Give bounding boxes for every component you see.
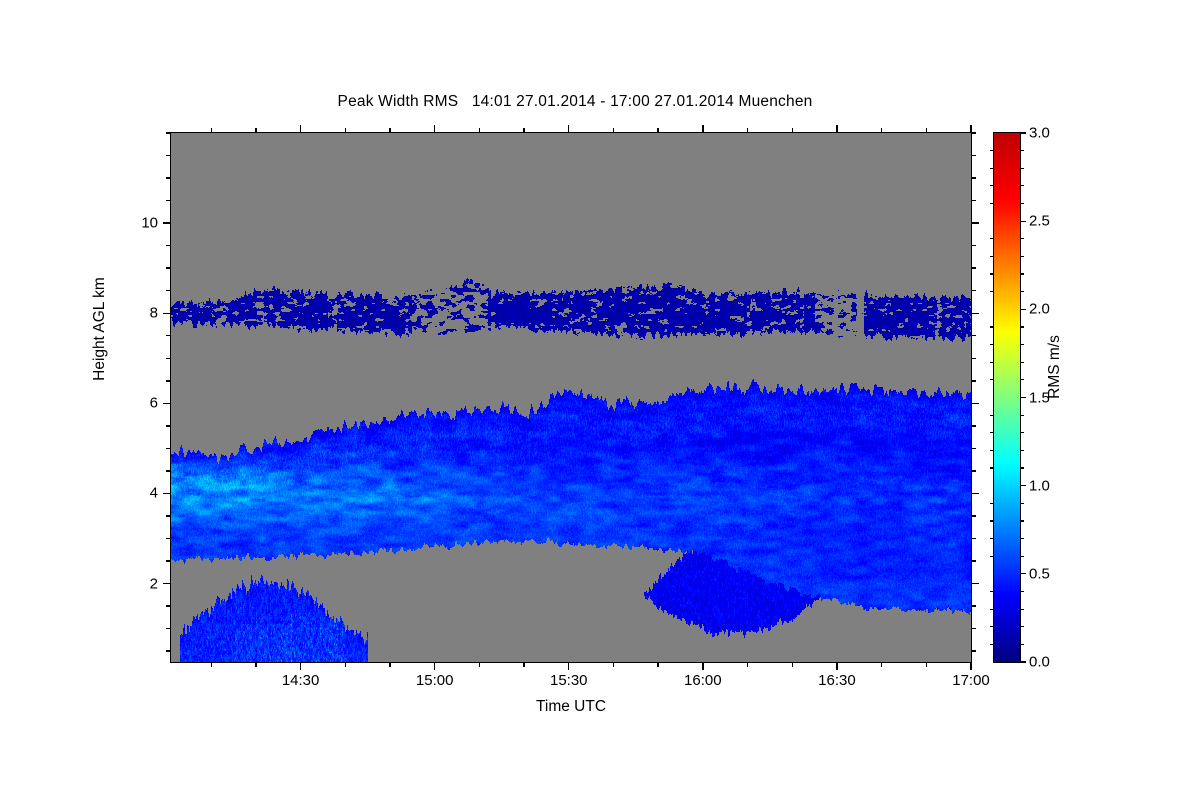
colorbar-label: RMS m/s <box>1046 297 1064 437</box>
x-axis-minor-tick <box>345 128 346 133</box>
x-axis-minor-tick <box>881 128 882 133</box>
colorbar-tick-label: 0.0 <box>1029 654 1050 671</box>
y-axis-minor-tick <box>166 515 171 516</box>
y-axis-major-tick <box>163 222 171 223</box>
x-axis-major-tick <box>970 662 971 670</box>
y-axis-minor-tick <box>971 358 976 359</box>
y-axis-label: Height AGL km <box>91 209 109 449</box>
y-axis-major-tick <box>971 493 979 494</box>
x-axis-minor-tick <box>345 662 346 667</box>
y-axis-minor-tick <box>971 245 976 246</box>
x-axis-minor-tick <box>523 662 524 667</box>
x-axis-major-tick <box>300 662 301 670</box>
x-axis-minor-tick <box>211 128 212 133</box>
x-axis-minor-tick <box>523 128 524 133</box>
x-axis-minor-tick <box>255 662 256 667</box>
y-axis-tick-label: 6 <box>102 395 158 412</box>
figure-canvas: Peak Width RMS 14:01 27.01.2014 - 17:00 … <box>0 0 1200 800</box>
colorbar-gradient <box>994 133 1020 662</box>
colorbar[interactable] <box>993 132 1021 663</box>
x-axis-tick-label: 17:00 <box>952 672 990 689</box>
y-axis-minor-tick <box>971 605 976 606</box>
y-axis-minor-tick <box>971 267 976 268</box>
y-axis-minor-tick <box>166 470 171 471</box>
x-axis-minor-tick <box>657 128 658 133</box>
y-axis-minor-tick <box>166 560 171 561</box>
x-axis-major-tick <box>568 662 569 670</box>
x-axis-minor-tick <box>881 662 882 667</box>
x-axis-minor-tick <box>657 662 658 667</box>
y-axis-major-tick <box>163 313 171 314</box>
x-axis-major-tick <box>300 125 301 133</box>
x-axis-tick-label: 16:30 <box>818 672 856 689</box>
x-axis-minor-tick <box>389 128 390 133</box>
x-axis-major-tick <box>702 662 703 670</box>
colorbar-tick-label: 2.5 <box>1029 213 1050 230</box>
y-axis-tick-label: 8 <box>102 305 158 322</box>
x-axis-major-tick <box>836 125 837 133</box>
y-axis-major-tick <box>163 493 171 494</box>
y-axis-minor-tick <box>971 448 976 449</box>
y-axis-major-tick <box>971 313 979 314</box>
y-axis-minor-tick <box>166 132 171 133</box>
y-axis-minor-tick <box>166 425 171 426</box>
x-axis-major-tick <box>434 662 435 670</box>
x-axis-label: Time UTC <box>170 698 972 716</box>
x-axis-tick-label: 15:30 <box>550 672 588 689</box>
y-axis-major-tick <box>163 583 171 584</box>
y-axis-minor-tick <box>166 650 171 651</box>
x-axis-minor-tick <box>389 662 390 667</box>
x-axis-minor-tick <box>792 662 793 667</box>
y-axis-minor-tick <box>971 177 976 178</box>
y-axis-minor-tick <box>166 290 171 291</box>
y-axis-minor-tick <box>971 628 976 629</box>
y-axis-minor-tick <box>166 380 171 381</box>
y-axis-minor-tick <box>971 155 976 156</box>
y-axis-tick-label: 10 <box>102 215 158 232</box>
y-axis-minor-tick <box>166 200 171 201</box>
x-axis-major-tick <box>702 125 703 133</box>
y-axis-minor-tick <box>166 448 171 449</box>
y-axis-minor-tick <box>971 132 976 133</box>
y-axis-major-tick <box>163 403 171 404</box>
y-axis-minor-tick <box>166 628 171 629</box>
y-axis-minor-tick <box>971 650 976 651</box>
y-axis-minor-tick <box>166 538 171 539</box>
x-axis-minor-tick <box>792 128 793 133</box>
y-axis-tick-label: 2 <box>102 575 158 592</box>
y-axis-major-tick <box>971 583 979 584</box>
x-axis-minor-tick <box>926 128 927 133</box>
y-axis-minor-tick <box>166 358 171 359</box>
y-axis-minor-tick <box>166 605 171 606</box>
y-axis-minor-tick <box>971 380 976 381</box>
x-axis-minor-tick <box>747 128 748 133</box>
x-axis-tick-label: 16:00 <box>684 672 722 689</box>
y-axis-minor-tick <box>166 177 171 178</box>
x-axis-major-tick <box>568 125 569 133</box>
y-axis-minor-tick <box>971 560 976 561</box>
y-axis-minor-tick <box>166 335 171 336</box>
y-axis-minor-tick <box>971 290 976 291</box>
y-axis-minor-tick <box>166 155 171 156</box>
y-axis-tick-label: 4 <box>102 485 158 502</box>
x-axis-minor-tick <box>255 128 256 133</box>
x-axis-minor-tick <box>613 662 614 667</box>
colorbar-tick-label: 3.0 <box>1029 125 1050 142</box>
y-axis-minor-tick <box>971 335 976 336</box>
colorbar-tick-label: 1.0 <box>1029 477 1050 494</box>
x-axis-major-tick <box>836 662 837 670</box>
x-axis-minor-tick <box>747 662 748 667</box>
x-axis-minor-tick <box>613 128 614 133</box>
x-axis-tick-label: 15:00 <box>416 672 454 689</box>
x-axis-minor-tick <box>211 662 212 667</box>
x-axis-minor-tick <box>479 128 480 133</box>
x-axis-minor-tick <box>926 662 927 667</box>
colorbar-tick-label: 0.5 <box>1029 565 1050 582</box>
heatmap-image <box>171 133 971 662</box>
y-axis-minor-tick <box>971 538 976 539</box>
x-axis-major-tick <box>434 125 435 133</box>
y-axis-minor-tick <box>971 515 976 516</box>
x-axis-tick-label: 14:30 <box>282 672 320 689</box>
y-axis-minor-tick <box>971 425 976 426</box>
heatmap-axes[interactable] <box>170 132 972 663</box>
y-axis-major-tick <box>971 222 979 223</box>
y-axis-minor-tick <box>166 267 171 268</box>
y-axis-minor-tick <box>971 470 976 471</box>
page-title: Peak Width RMS 14:01 27.01.2014 - 17:00 … <box>0 93 1150 111</box>
x-axis-minor-tick <box>479 662 480 667</box>
y-axis-minor-tick <box>166 245 171 246</box>
y-axis-minor-tick <box>971 200 976 201</box>
y-axis-major-tick <box>971 403 979 404</box>
